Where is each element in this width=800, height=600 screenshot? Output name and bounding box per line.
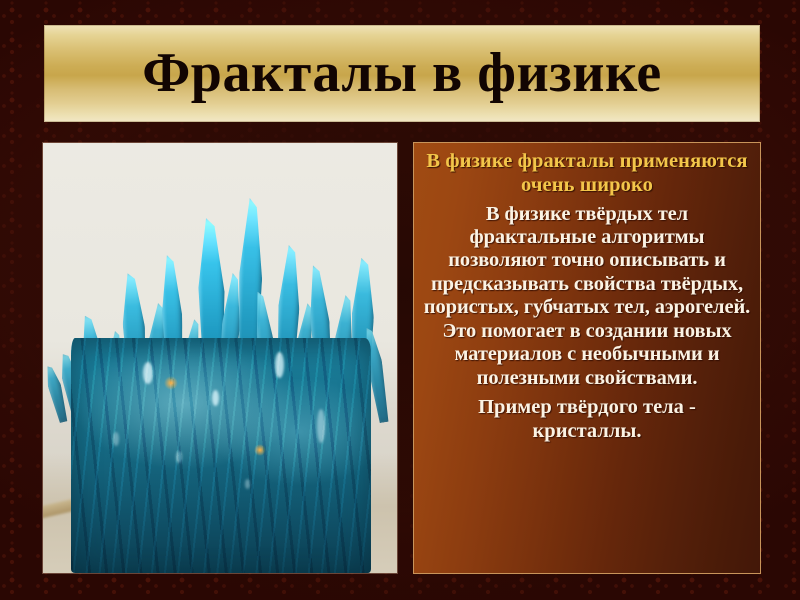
slide-title: Фракталы в физике bbox=[142, 45, 662, 101]
presentation-slide: Фракталы в физике В физике фракталы прим… bbox=[0, 0, 800, 600]
info-text-panel: В физике фракталы применяются очень широ… bbox=[413, 142, 761, 574]
crystal-photo bbox=[43, 143, 397, 573]
crystal-body bbox=[71, 338, 371, 573]
panel-body-text: В физике твёрдых тел фрактальные алгорит… bbox=[423, 203, 751, 391]
panel-heading: В физике фракталы применяются очень широ… bbox=[423, 150, 751, 198]
panel-closing-text: Пример твёрдого тела - кристаллы. bbox=[423, 396, 751, 444]
crystal-photo-frame bbox=[43, 143, 397, 573]
title-banner: Фракталы в физике bbox=[44, 25, 760, 122]
